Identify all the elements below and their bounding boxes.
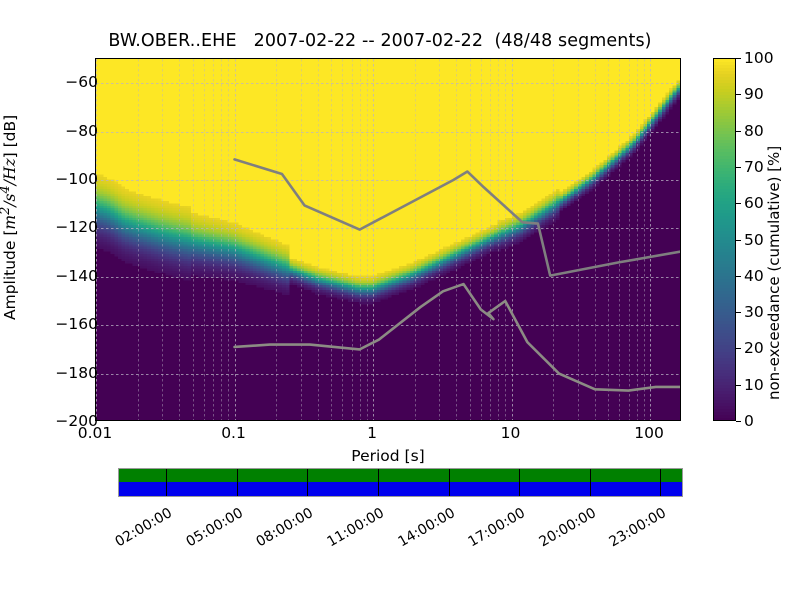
x-tick-minor-top xyxy=(367,58,368,59)
x-tick-minor xyxy=(608,420,609,421)
x-tick-minor xyxy=(505,420,506,421)
x-tick-minor-top xyxy=(138,58,139,59)
x-tick-minor xyxy=(204,420,205,421)
x-tick-minor-top xyxy=(481,58,482,59)
noise-curve-high-noise-model xyxy=(235,159,681,275)
y-tick-right xyxy=(680,132,681,133)
colorbar-label: non-exceedance (cumulative) [%] xyxy=(765,146,783,400)
x-tick-minor xyxy=(578,420,579,421)
colorbar-segment xyxy=(714,418,735,421)
timeline-tick-label: 05:00:00 xyxy=(163,505,245,562)
x-tick-minor-top xyxy=(629,58,630,59)
timeline-tick-label: 02:00:00 xyxy=(93,505,175,562)
x-tick-minor-top xyxy=(193,58,194,59)
x-tick-minor-top xyxy=(456,58,457,59)
x-tick-minor xyxy=(498,420,499,421)
colorbar-tick-label: 80 xyxy=(744,122,764,140)
x-tick-minor xyxy=(619,420,620,421)
y-axis-label: Amplitude [m2/s4/Hz] [dB] xyxy=(0,290,19,320)
x-tick-minor-top xyxy=(318,58,319,59)
timeline-separator xyxy=(237,469,238,496)
x-tick-minor xyxy=(193,420,194,421)
x-tick-minor-top xyxy=(470,58,471,59)
x-tick-minor xyxy=(439,420,440,421)
x-tick-minor xyxy=(360,420,361,421)
colorbar-tick xyxy=(736,167,741,168)
colorbar-tick xyxy=(736,385,741,386)
colorbar-tick xyxy=(736,240,741,241)
x-tick-minor xyxy=(221,420,222,421)
x-tick-label: 1 xyxy=(367,424,377,442)
x-tick-minor xyxy=(637,420,638,421)
ppsd-plot-area xyxy=(95,58,681,421)
x-tick-minor xyxy=(644,420,645,421)
colorbar-tick-label: 50 xyxy=(744,231,764,249)
x-tick-minor-top xyxy=(578,58,579,59)
noise-curve-low-noise-model xyxy=(235,284,681,390)
timeline-tick-label: 23:00:00 xyxy=(587,505,669,562)
x-tick-minor-top xyxy=(342,58,343,59)
colorbar-tick xyxy=(736,58,741,59)
x-tick xyxy=(235,420,236,421)
x-tick-minor xyxy=(318,420,319,421)
x-tick-minor xyxy=(352,420,353,421)
colorbar-tick xyxy=(736,276,741,277)
x-tick-minor xyxy=(276,420,277,421)
y-tick-label: −160 xyxy=(55,315,98,333)
y-tick-right xyxy=(680,228,681,229)
x-tick xyxy=(373,420,374,421)
x-tick-minor xyxy=(213,420,214,421)
y-tick-label: −80 xyxy=(65,122,98,140)
x-tick-minor xyxy=(481,420,482,421)
x-tick-minor-top xyxy=(352,58,353,59)
timeline-separator xyxy=(519,469,520,496)
x-tick-top xyxy=(96,58,97,59)
timeline-bar-green xyxy=(119,469,682,482)
colorbar-tick-label: 60 xyxy=(744,194,764,212)
ppsd-figure: BW.OBER..EHE 2007-02-22 -- 2007-02-22 (4… xyxy=(0,0,800,600)
colorbar-tick-label: 40 xyxy=(744,267,764,285)
x-tick-minor-top xyxy=(204,58,205,59)
y-tick-label: −180 xyxy=(55,364,98,382)
colorbar-tick xyxy=(736,94,741,95)
x-tick-minor-top xyxy=(608,58,609,59)
x-tick-minor-top xyxy=(553,58,554,59)
x-tick-minor-top xyxy=(595,58,596,59)
x-tick-minor-top xyxy=(301,58,302,59)
x-tick-minor xyxy=(629,420,630,421)
y-tick-label: −100 xyxy=(55,170,98,188)
x-tick-minor xyxy=(138,420,139,421)
colorbar-tick-label: 90 xyxy=(744,85,764,103)
timeline-separator xyxy=(660,469,661,496)
x-tick-top xyxy=(512,58,513,59)
timeline-tick-label: 11:00:00 xyxy=(304,505,386,562)
timeline-tick-label: 17:00:00 xyxy=(446,505,528,562)
x-tick-minor-top xyxy=(637,58,638,59)
x-tick-label: 0.1 xyxy=(221,424,246,442)
x-tick-top xyxy=(235,58,236,59)
colorbar-tick xyxy=(736,348,741,349)
x-tick-minor-top xyxy=(228,58,229,59)
colorbar-tick-label: 70 xyxy=(744,158,764,176)
timeline-tick-label: 14:00:00 xyxy=(375,505,457,562)
x-tick-minor-top xyxy=(644,58,645,59)
x-tick-minor-top xyxy=(498,58,499,59)
x-tick-minor xyxy=(342,420,343,421)
timeline-separator xyxy=(449,469,450,496)
x-tick-label: 10 xyxy=(501,424,521,442)
y-tick-right xyxy=(680,325,681,326)
x-tick-top xyxy=(650,58,651,59)
colorbar-tick-label: 20 xyxy=(744,339,764,357)
colorbar-tick xyxy=(736,421,741,422)
x-tick-minor-top xyxy=(179,58,180,59)
timeline-tick-label: 08:00:00 xyxy=(234,505,316,562)
y-tick-label: −120 xyxy=(55,218,98,236)
x-tick-minor xyxy=(331,420,332,421)
x-tick-minor-top xyxy=(415,58,416,59)
x-tick-label: 0.01 xyxy=(78,424,113,442)
timeline-separator xyxy=(166,469,167,496)
x-axis-label: Period [s] xyxy=(95,447,681,465)
colorbar-tick-label: 10 xyxy=(744,376,764,394)
colorbar-tick-label: 0 xyxy=(744,412,754,430)
x-tick-minor xyxy=(553,420,554,421)
x-tick-label: 100 xyxy=(634,424,664,442)
x-tick-minor-top xyxy=(213,58,214,59)
colorbar-tick xyxy=(736,312,741,313)
x-tick-minor-top xyxy=(490,58,491,59)
x-tick-minor-top xyxy=(276,58,277,59)
x-tick-minor xyxy=(367,420,368,421)
x-tick-minor-top xyxy=(221,58,222,59)
plot-title: BW.OBER..EHE 2007-02-22 -- 2007-02-22 (4… xyxy=(0,31,760,51)
x-tick-minor xyxy=(415,420,416,421)
x-tick-minor-top xyxy=(439,58,440,59)
x-tick-minor xyxy=(470,420,471,421)
colorbar-tick xyxy=(736,203,741,204)
y-tick-right xyxy=(680,180,681,181)
x-tick-minor xyxy=(490,420,491,421)
x-tick-minor xyxy=(228,420,229,421)
x-tick-minor-top xyxy=(162,58,163,59)
y-tick-label: −60 xyxy=(65,73,98,91)
colorbar xyxy=(713,58,736,421)
timeline-bar-blue xyxy=(119,482,682,496)
x-tick-minor xyxy=(456,420,457,421)
x-tick-top xyxy=(373,58,374,59)
colorbar-tick xyxy=(736,131,741,132)
x-tick xyxy=(650,420,651,421)
y-tick-right xyxy=(680,277,681,278)
x-tick-minor-top xyxy=(360,58,361,59)
y-tick-label: −140 xyxy=(55,267,98,285)
colorbar-tick-label: 100 xyxy=(744,49,774,67)
x-tick-minor-top xyxy=(505,58,506,59)
data-coverage-timeline xyxy=(118,468,683,497)
x-tick-minor xyxy=(179,420,180,421)
timeline-separator xyxy=(590,469,591,496)
timeline-separator xyxy=(307,469,308,496)
x-tick-minor xyxy=(162,420,163,421)
noise-model-curves xyxy=(96,59,681,421)
x-tick-minor xyxy=(595,420,596,421)
y-tick-right xyxy=(680,83,681,84)
y-tick-right xyxy=(680,374,681,375)
colorbar-tick-label: 30 xyxy=(744,303,764,321)
timeline-separator xyxy=(378,469,379,496)
x-tick xyxy=(512,420,513,421)
timeline-tick-label: 20:00:00 xyxy=(516,505,598,562)
x-tick-minor xyxy=(301,420,302,421)
x-tick-minor-top xyxy=(331,58,332,59)
x-tick-minor-top xyxy=(619,58,620,59)
